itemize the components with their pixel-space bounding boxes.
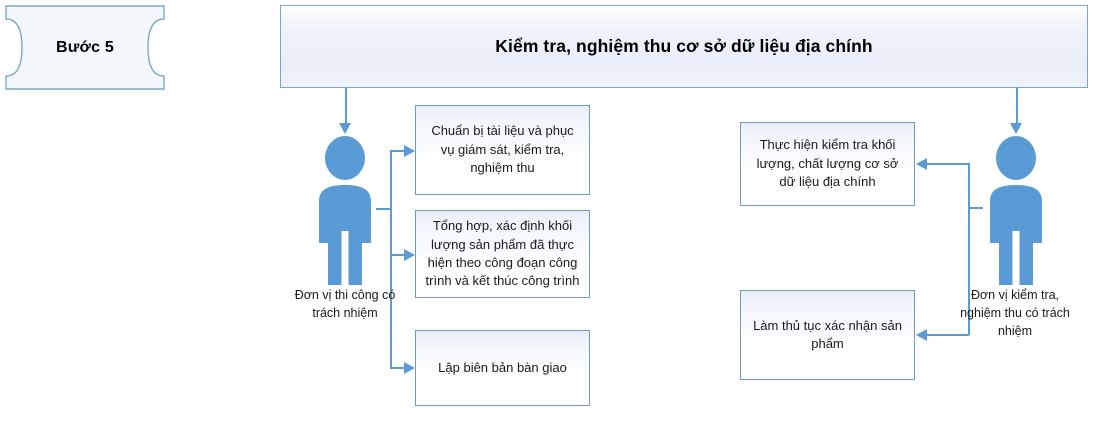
flowchart-canvas: Bước 5 Kiểm tra, nghiệm thu cơ sở dữ liệ… [0,0,1093,421]
process-box-summarize-volume: Tổng hợp, xác định khối lượng sản phẩm đ… [415,210,590,298]
step-plaque: Bước 5 [5,5,165,90]
header-banner: Kiểm tra, nghiệm thu cơ sở dữ liệu địa c… [280,5,1088,88]
process-box-handover-record-text: Lập biên bản bàn giao [438,359,567,377]
actor-left-icon-wrapper [309,135,381,285]
banner-title: Kiểm tra, nghiệm thu cơ sở dữ liệu địa c… [495,36,872,57]
process-box-handover-record: Lập biên bản bàn giao [415,330,590,406]
connector-banner-to-right-actor [1016,88,1018,124]
person-icon [980,135,1052,285]
process-box-summarize-volume-text: Tổng hợp, xác định khối lượng sản phẩm đ… [423,217,582,291]
process-box-perform-inspection: Thực hiện kiểm tra khối lượng, chất lượn… [740,122,915,206]
process-box-product-confirmation: Làm thủ tục xác nhận sản phẩm [740,290,915,380]
process-box-prepare-documents: Chuẩn bị tài liệu và phục vụ giám sát, k… [415,105,590,195]
connector-right-to-check [926,163,969,165]
connector-banner-to-left-actor [345,88,347,124]
step-plaque-label: Bước 5 [5,5,165,90]
process-box-prepare-documents-text: Chuẩn bị tài liệu và phục vụ giám sát, k… [423,122,582,177]
actor-right-icon-wrapper [980,135,1052,285]
arrowhead-left-to-record [404,362,415,374]
arrowhead-banner-to-left-actor [339,123,351,134]
arrowhead-left-to-prep [404,145,415,157]
process-box-perform-inspection-text: Thực hiện kiểm tra khối lượng, chất lượn… [748,136,907,191]
actor-left-label: Đơn vị thi công có trách nhiệm [270,286,420,322]
arrowhead-left-to-sum [404,249,415,261]
arrowhead-right-to-check [916,158,927,170]
process-box-product-confirmation-text: Làm thủ tục xác nhận sản phẩm [748,317,907,354]
actor-right-label: Đơn vị kiểm tra, nghiệm thu có trách nhi… [940,286,1090,340]
connector-left-trunk [390,150,392,368]
arrowhead-right-to-confirm [916,329,927,341]
person-icon [309,135,381,285]
arrowhead-banner-to-right-actor [1010,123,1022,134]
